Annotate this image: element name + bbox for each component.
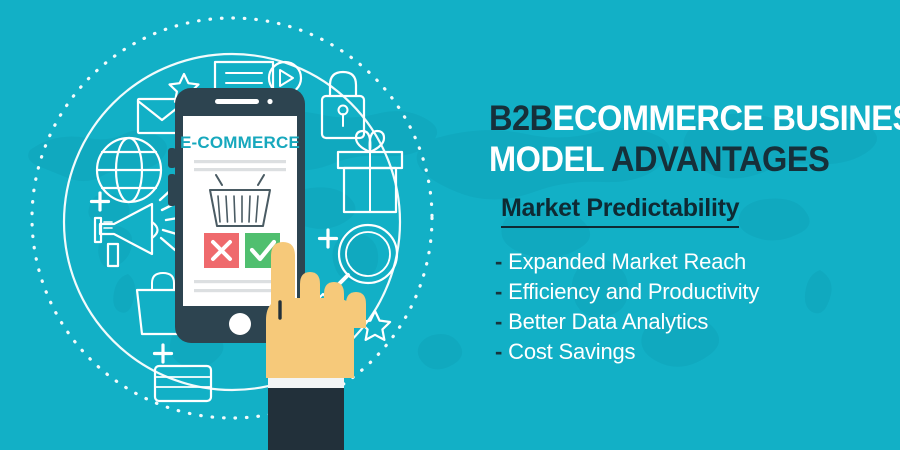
list-item-label: Expanded Market Reach (508, 249, 746, 274)
list-item-label: Efficiency and Productivity (508, 279, 759, 304)
bullet-dash: - (495, 309, 502, 334)
list-item-label: Better Data Analytics (508, 309, 708, 334)
headline-advantages: ADVANTAGES (611, 140, 829, 179)
bullet-dash: - (495, 279, 502, 304)
text-column: B2BECOMMERCE BUSINESS MODEL ADVANTAGES M… (489, 0, 889, 450)
reject-button[interactable] (204, 233, 239, 268)
list-item-label: Cost Savings (508, 339, 635, 364)
headline-model: MODEL (489, 140, 604, 179)
ecommerce-illustration: E-COMMERCE (0, 0, 460, 450)
plus-icon (92, 193, 109, 210)
headline-line-2: MODEL ADVANTAGES (489, 139, 861, 180)
advantages-list: -Expanded Market Reach -Efficiency and P… (495, 247, 759, 367)
list-item: -Expanded Market Reach (495, 247, 759, 277)
subtitle: Market Predictability (501, 194, 739, 228)
headline-ecommerce-business: ECOMMERCE BUSINESS (553, 99, 900, 138)
headline-line-1: B2BECOMMERCE BUSINESS (489, 98, 861, 139)
bullet-dash: - (495, 249, 502, 274)
plus-icon (155, 345, 172, 362)
list-item: -Efficiency and Productivity (495, 277, 759, 307)
padlock-icon (322, 72, 364, 138)
list-item: -Cost Savings (495, 337, 759, 367)
plus-icon (320, 230, 337, 247)
page-title: B2BECOMMERCE BUSINESS MODEL ADVANTAGES (489, 98, 861, 180)
phone-screen-title: E-COMMERCE (180, 133, 300, 152)
bullet-dash: - (495, 339, 502, 364)
list-item: -Better Data Analytics (495, 307, 759, 337)
banner: E-COMMERCE (0, 0, 900, 450)
headline-b2b: B2B (489, 99, 553, 138)
pointing-hand (266, 242, 366, 450)
globe-icon (97, 138, 161, 202)
